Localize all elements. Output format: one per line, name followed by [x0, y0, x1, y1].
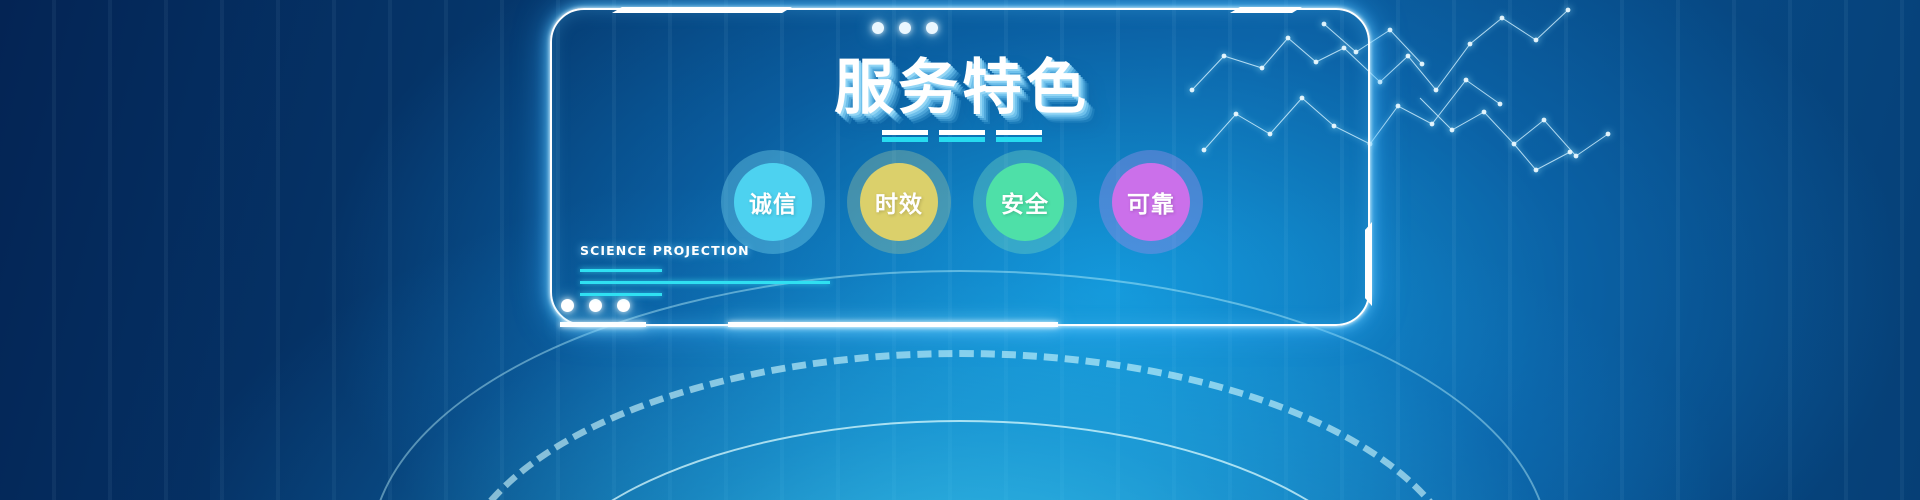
feature-circle-label: 安全 [986, 163, 1064, 241]
frame-dots-bottom [561, 299, 630, 312]
hud-ring-2 [450, 350, 1470, 500]
title-block: 服务特色 [552, 58, 1372, 142]
frame-segment-top-right [1230, 7, 1302, 13]
underline-dash-white [996, 130, 1042, 135]
science-projection-label: SCIENCE PROJECTION [580, 243, 1220, 258]
title-underline [552, 130, 1372, 142]
underline-dash-white [939, 130, 985, 135]
hud-ring-3 [520, 420, 1400, 500]
underline-dash-white [882, 130, 928, 135]
accent-line-long [580, 281, 830, 284]
feature-circle-kekao[interactable]: 可靠 [1099, 150, 1203, 254]
frame-segment-bottom-right [728, 322, 1058, 327]
glowing-frame: 服务特色 诚信 时效 [550, 8, 1370, 326]
feature-circle-label: 诚信 [734, 163, 812, 241]
feature-circle-anquan[interactable]: 安全 [973, 150, 1077, 254]
feature-circle-shixiao[interactable]: 时效 [847, 150, 951, 254]
feature-circle-chengxin[interactable]: 诚信 [721, 150, 825, 254]
underline-dash-cyan [939, 137, 985, 142]
frame-segment-top-left [612, 7, 792, 13]
underline-dash [996, 130, 1042, 142]
feature-circle-list: 诚信 时效 安全 可靠 [552, 150, 1372, 254]
feature-circle-label: 时效 [860, 163, 938, 241]
dot-icon [589, 299, 602, 312]
underline-dash [882, 130, 928, 142]
dot-icon [899, 22, 911, 34]
science-projection-block: SCIENCE PROJECTION [580, 243, 1220, 296]
page-title: 服务特色 [552, 58, 1372, 118]
dot-icon [872, 22, 884, 34]
service-features-banner: 服务特色 诚信 时效 [0, 0, 1920, 500]
underline-dash-cyan [996, 137, 1042, 142]
frame-segment-bottom-left [560, 322, 646, 327]
feature-circle-label: 可靠 [1112, 163, 1190, 241]
underline-dash-cyan [882, 137, 928, 142]
underline-dash [939, 130, 985, 142]
frame-dots-top [872, 22, 938, 34]
accent-line-short-bottom [580, 293, 662, 296]
dot-icon [617, 299, 630, 312]
accent-line-short-top [580, 269, 662, 272]
dot-icon [561, 299, 574, 312]
dot-icon [926, 22, 938, 34]
